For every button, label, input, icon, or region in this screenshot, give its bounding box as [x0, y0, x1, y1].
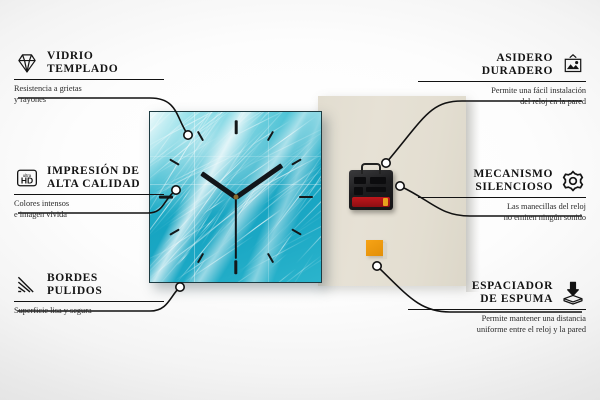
feature-title-line2: TEMPLADO [47, 63, 118, 76]
feature-header: ultra HD IMPRESIÓN DE ALTA CALIDAD [14, 165, 164, 191]
feature-rule [418, 197, 586, 198]
feature-rule [14, 194, 164, 195]
feature-title-line2: DURADERO [482, 65, 553, 78]
polished-edges-icon [14, 272, 40, 298]
hd-badge-main-text: HD [21, 176, 33, 186]
feature-desc-line2: uniforme entre el reloj y la pared [408, 325, 586, 336]
feature-header: VIDRIO TEMPLADO [14, 50, 164, 76]
feature-desc-line1: Permite una fácil instalación [418, 86, 586, 97]
feature-espaciador-de-espuma: ESPACIADOR DE ESPUMA Permite mantener un… [408, 280, 586, 335]
feature-desc-line1: Superficie lisa y segura [14, 306, 164, 317]
mechanism-hanger-icon [361, 163, 381, 174]
feature-desc-line2: del reloj en la pared [418, 97, 586, 108]
glass-seam-horizontal [150, 184, 321, 185]
diamond-icon [14, 50, 40, 76]
feature-desc-line1: Colores intensos [14, 199, 164, 210]
clock-tick [299, 196, 313, 199]
feature-title-line1: BORDES [47, 272, 102, 285]
feature-title-line2: ALTA CALIDAD [47, 178, 140, 191]
feature-vidrio-templado: VIDRIO TEMPLADO Resistencia a grietas y … [14, 50, 164, 105]
feature-title-line1: VIDRIO [47, 50, 118, 63]
clock-tick [234, 120, 237, 134]
mechanism-detail [370, 177, 386, 184]
feature-title-line2: PULIDOS [47, 285, 102, 298]
feature-rule [418, 81, 586, 82]
connector-dot [176, 283, 184, 291]
mechanism-detail [354, 187, 363, 195]
clock-center-pin [233, 195, 238, 200]
second-hand [235, 197, 237, 259]
clock-tick [234, 260, 237, 274]
feature-desc-line2: no emiten ningún sonido [418, 213, 586, 224]
feature-impresion-alta-calidad: ultra HD IMPRESIÓN DE ALTA CALIDAD Color… [14, 165, 164, 220]
mechanism-detail [354, 177, 366, 184]
feature-title-line1: ESPACIADOR [472, 280, 553, 293]
feature-header: BORDES PULIDOS [14, 272, 164, 298]
product-clock [149, 111, 322, 283]
feature-title-line2: DE ESPUMA [472, 293, 553, 306]
picture-hanger-icon [560, 52, 586, 78]
feature-rule [14, 301, 164, 302]
feature-asidero-duradero: ASIDERO DURADERO Permite una fácil insta… [418, 52, 586, 107]
feature-header: ESPACIADOR DE ESPUMA [408, 280, 586, 306]
feature-rule [408, 309, 586, 310]
feature-desc-line1: Resistencia a grietas [14, 84, 164, 95]
mechanism-battery [352, 197, 390, 207]
gear-icon [560, 168, 586, 194]
clock-mechanism [349, 170, 393, 210]
feature-title-line1: ASIDERO [482, 52, 553, 65]
ultra-hd-badge-icon: ultra HD [14, 165, 40, 191]
feature-bordes-pulidos: BORDES PULIDOS Superficie lisa y segura [14, 272, 164, 317]
feature-header: ASIDERO DURADERO [418, 52, 586, 78]
feature-title-line1: MECANISMO [473, 168, 553, 181]
feature-rule [14, 79, 164, 80]
feature-mecanismo-silencioso: MECANISMO SILENCIOSO Las manecillas del … [418, 168, 586, 223]
feature-header: MECANISMO SILENCIOSO [418, 168, 586, 194]
mechanism-detail [366, 187, 386, 192]
foam-spacer-arrow-icon [560, 280, 586, 306]
infographic-stage: VIDRIO TEMPLADO Resistencia a grietas y … [0, 0, 600, 400]
foam-spacer [366, 240, 383, 256]
feature-desc-line2: e imagen vívida [14, 210, 164, 221]
feature-desc-line2: y rayones [14, 95, 164, 106]
feature-title-line2: SILENCIOSO [473, 181, 553, 194]
glass-seam-vertical [194, 112, 195, 282]
feature-desc-line1: Las manecillas del reloj [418, 202, 586, 213]
glass-seam-horizontal-2 [150, 156, 321, 157]
feature-desc-line1: Permite mantener una distancia [408, 314, 586, 325]
feature-title-line1: IMPRESIÓN DE [47, 165, 140, 178]
